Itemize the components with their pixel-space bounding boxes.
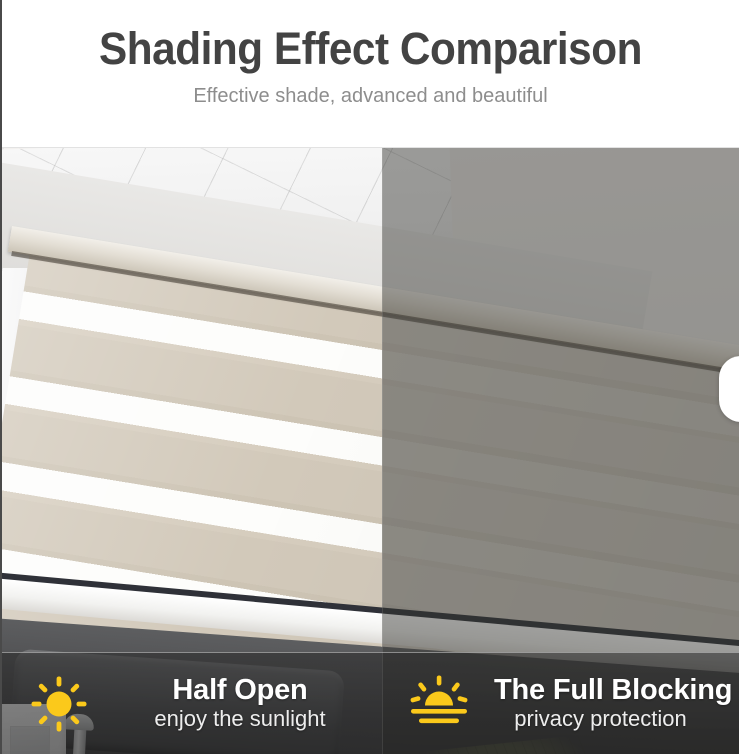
caption-text-full-blocking: The Full Blocking privacy protection: [484, 675, 739, 732]
caption-bar-half-open: Half Open enjoy the sunlight: [2, 652, 382, 754]
caption-subtitle: privacy protection: [494, 706, 735, 732]
page-subtitle: Effective shade, advanced and beautiful: [2, 71, 739, 107]
caption-bar-full-blocking: The Full Blocking privacy protection: [382, 652, 739, 754]
caption-title: Half Open: [104, 675, 376, 706]
comparison-panel-full-blocking[interactable]: The Full Blocking privacy protection: [382, 148, 739, 754]
comparison-stage: Half Open enjoy the sunlight: [2, 148, 739, 754]
page-title: Shading Effect Comparison: [24, 0, 717, 71]
caption-title: The Full Blocking: [494, 675, 735, 706]
comparison-panel-half-open[interactable]: Half Open enjoy the sunlight: [2, 148, 382, 754]
sunset-icon: [408, 673, 470, 735]
product-comparison-slide: Shading Effect Comparison Effective shad…: [0, 0, 739, 754]
sun-icon: [28, 673, 90, 735]
caption-subtitle: enjoy the sunlight: [104, 706, 376, 732]
panel-split-divider: [382, 148, 383, 754]
caption-text-half-open: Half Open enjoy the sunlight: [104, 675, 382, 732]
header: Shading Effect Comparison Effective shad…: [2, 0, 739, 148]
next-slide-arrow[interactable]: [719, 356, 739, 422]
